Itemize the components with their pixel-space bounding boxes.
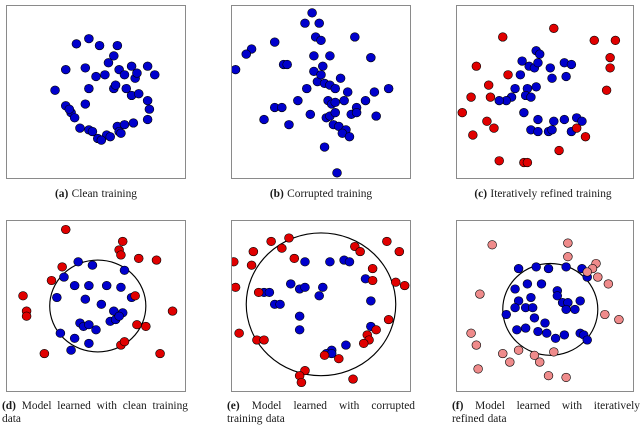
data-point <box>111 81 120 90</box>
scatter-plot-b <box>232 6 410 178</box>
data-point <box>306 110 315 119</box>
data-point <box>336 74 345 83</box>
data-point <box>483 117 492 126</box>
data-point <box>317 71 326 80</box>
data-point <box>562 373 571 382</box>
data-point <box>309 52 318 61</box>
data-point <box>141 322 150 331</box>
data-point <box>132 69 141 78</box>
scatter-series-outlier <box>232 234 409 387</box>
data-point <box>265 288 274 297</box>
data-point <box>484 81 493 90</box>
data-point <box>131 292 140 301</box>
data-point <box>315 19 324 28</box>
data-point <box>511 303 520 312</box>
data-point <box>523 158 532 167</box>
data-point <box>549 348 558 357</box>
data-point <box>235 329 244 338</box>
data-point <box>361 96 370 105</box>
data-point <box>498 349 507 358</box>
panel-c <box>456 5 634 179</box>
data-point <box>382 237 391 246</box>
data-point <box>116 251 125 260</box>
scatter-series-inlier <box>502 263 592 345</box>
caption-label-d: (d) <box>2 400 16 412</box>
data-point <box>61 225 70 234</box>
data-point <box>562 72 571 81</box>
data-point <box>285 120 294 129</box>
data-point <box>260 115 269 124</box>
data-point <box>560 115 569 124</box>
plot-frame-c <box>456 5 634 179</box>
data-point <box>84 281 93 290</box>
data-point <box>297 378 306 387</box>
data-point <box>505 358 514 367</box>
data-point <box>488 241 497 250</box>
data-point <box>70 114 79 123</box>
data-point <box>541 319 550 328</box>
data-point <box>523 280 532 289</box>
data-point <box>22 312 31 321</box>
data-point <box>81 100 90 109</box>
data-point <box>602 86 611 95</box>
caption-text-b: Corrupted training <box>287 188 372 200</box>
caption-c: (c) Iteratively refined training <box>446 188 640 201</box>
data-point <box>143 62 152 71</box>
data-point <box>467 93 476 102</box>
scatter-plot-e <box>232 221 410 391</box>
caption-text-c: Iteratively refined training <box>490 188 611 200</box>
data-point <box>168 307 177 316</box>
data-point <box>109 52 118 61</box>
data-point <box>331 98 340 107</box>
data-point <box>571 305 580 314</box>
data-point <box>267 237 276 246</box>
data-point <box>97 300 106 309</box>
data-point <box>340 96 349 105</box>
data-point <box>293 96 302 105</box>
data-point <box>95 41 104 50</box>
data-point <box>611 36 620 45</box>
data-point <box>542 329 551 338</box>
data-point <box>527 293 536 302</box>
data-point <box>593 273 602 282</box>
data-point <box>546 64 555 73</box>
data-point <box>581 132 590 141</box>
data-point <box>567 60 576 69</box>
data-point <box>247 261 256 270</box>
data-point <box>498 33 507 42</box>
data-point <box>534 58 543 67</box>
data-point <box>92 72 101 81</box>
data-point <box>343 88 352 97</box>
data-point <box>270 38 279 47</box>
data-point <box>318 62 327 71</box>
data-point <box>474 365 483 374</box>
data-point <box>232 258 238 267</box>
data-point <box>152 256 161 265</box>
data-point <box>528 303 537 312</box>
data-point <box>572 124 581 133</box>
data-point <box>277 103 286 112</box>
data-point <box>92 326 101 335</box>
data-point <box>555 146 564 155</box>
data-point <box>368 276 377 285</box>
data-point <box>145 105 154 114</box>
data-point <box>366 297 375 306</box>
data-point <box>548 74 557 83</box>
caption-text-e: Model learned with corrupted training da… <box>227 400 415 425</box>
data-point <box>384 315 393 324</box>
data-point <box>301 258 310 267</box>
data-point <box>495 96 504 105</box>
data-point <box>132 320 141 329</box>
scatter-series-inlier <box>51 34 160 144</box>
data-point <box>563 252 572 261</box>
data-point <box>514 264 523 273</box>
data-point <box>560 331 569 340</box>
panel-a <box>6 5 186 179</box>
data-point <box>512 326 521 335</box>
data-point <box>81 295 90 304</box>
data-point <box>521 324 530 333</box>
data-point <box>116 283 125 292</box>
data-point <box>356 247 365 256</box>
data-point <box>120 337 129 346</box>
data-point <box>60 273 69 282</box>
scatter-plot-f <box>457 221 633 391</box>
scatter-series-outlier <box>458 24 620 167</box>
scatter-series-outlier <box>19 225 177 358</box>
data-point <box>100 71 109 80</box>
data-point <box>534 115 543 124</box>
data-point <box>359 339 368 348</box>
data-point <box>615 315 624 324</box>
figure-container: (a) Clean training (b) Corrupted trainin… <box>0 0 640 432</box>
data-point <box>532 83 541 92</box>
data-point <box>118 237 127 246</box>
data-point <box>372 112 381 121</box>
data-point <box>97 136 106 145</box>
data-point <box>301 19 310 28</box>
data-point <box>549 117 558 126</box>
data-point <box>366 53 375 62</box>
caption-text-d: Model learned with clean training data <box>2 400 188 425</box>
plot-frame-b <box>231 5 411 179</box>
data-point <box>490 124 499 133</box>
data-point <box>143 96 152 105</box>
data-point <box>368 264 377 273</box>
data-point <box>349 375 358 384</box>
data-point <box>325 52 334 61</box>
data-point <box>276 300 285 309</box>
data-point <box>232 283 240 292</box>
data-point <box>249 247 258 256</box>
data-point <box>51 86 60 95</box>
panel-e <box>231 220 411 392</box>
data-point <box>129 119 138 128</box>
data-point <box>548 126 557 135</box>
data-point <box>583 336 592 345</box>
data-point <box>502 310 511 319</box>
data-point <box>67 346 76 355</box>
data-point <box>535 50 544 59</box>
data-point <box>320 351 329 360</box>
data-point <box>534 127 543 136</box>
data-point <box>318 283 327 292</box>
caption-e: (e) Model learned with corrupted trainin… <box>227 400 415 427</box>
data-point <box>61 65 70 74</box>
data-point <box>76 124 85 133</box>
data-point <box>604 280 613 289</box>
data-point <box>467 329 476 338</box>
caption-b: (b) Corrupted training <box>227 188 415 201</box>
data-point <box>122 84 131 93</box>
data-point <box>519 108 528 117</box>
data-point <box>285 234 294 243</box>
data-point <box>458 108 467 117</box>
data-point <box>47 276 56 285</box>
data-point <box>317 36 326 45</box>
plot-frame-d <box>6 220 186 392</box>
data-point <box>84 34 93 43</box>
panel-b <box>231 5 411 179</box>
data-point <box>84 339 93 348</box>
data-point <box>65 105 74 114</box>
data-point <box>576 297 585 306</box>
data-point <box>72 40 81 49</box>
data-point <box>315 292 324 301</box>
data-point <box>143 115 152 124</box>
data-point <box>283 60 292 69</box>
data-point <box>58 263 67 272</box>
plot-frame-a <box>6 5 186 179</box>
data-point <box>81 64 90 73</box>
caption-label-b: (b) <box>270 188 284 200</box>
plot-frame-f <box>456 220 634 392</box>
caption-text-f: Model learned with iteratively refined d… <box>452 400 640 425</box>
data-point <box>156 349 165 358</box>
data-point <box>352 108 361 117</box>
caption-label-a: (a) <box>55 188 68 200</box>
data-point <box>535 358 544 367</box>
data-point <box>232 65 240 74</box>
data-point <box>84 84 93 93</box>
data-point <box>115 312 124 321</box>
data-point <box>260 336 269 345</box>
data-point <box>549 24 558 33</box>
data-point <box>88 261 97 270</box>
data-point <box>400 281 409 290</box>
data-point <box>606 53 615 62</box>
data-point <box>333 169 342 178</box>
scatter-plot-d <box>7 221 185 391</box>
data-point <box>102 281 111 290</box>
data-point <box>516 71 525 80</box>
data-point <box>70 281 79 290</box>
caption-label-f: (f) <box>452 400 463 412</box>
data-point <box>530 314 539 323</box>
data-point <box>120 266 129 275</box>
data-point <box>325 258 334 267</box>
data-point <box>514 346 523 355</box>
data-point <box>544 264 553 273</box>
scatter-series-outlier <box>467 239 624 382</box>
data-point <box>331 108 340 117</box>
caption-label-e: (e) <box>227 400 240 412</box>
data-point <box>468 131 477 140</box>
data-point <box>562 305 571 314</box>
data-point <box>113 41 122 50</box>
scatter-plot-c <box>457 6 633 178</box>
data-point <box>120 71 129 80</box>
data-point <box>350 33 359 42</box>
data-point <box>345 258 354 267</box>
data-point <box>472 62 481 71</box>
data-point <box>583 268 592 277</box>
data-point <box>486 93 495 102</box>
data-point <box>254 288 263 297</box>
data-point <box>511 285 520 294</box>
data-point <box>56 329 65 338</box>
data-point <box>70 334 79 343</box>
data-point <box>277 244 286 253</box>
data-point <box>40 349 49 358</box>
data-point <box>150 71 159 80</box>
data-point <box>527 93 536 102</box>
data-point <box>134 254 143 263</box>
data-point <box>472 341 481 350</box>
data-point <box>116 129 125 138</box>
data-point <box>475 290 484 299</box>
data-point <box>19 292 28 301</box>
data-point <box>532 263 541 272</box>
data-point <box>495 157 504 166</box>
data-point <box>52 293 61 302</box>
data-point <box>370 88 379 97</box>
scatter-series-inlier <box>232 9 393 178</box>
data-point <box>372 326 381 335</box>
data-point <box>74 258 83 267</box>
data-point <box>134 89 143 98</box>
data-point <box>341 341 350 350</box>
panel-f <box>456 220 634 392</box>
data-point <box>345 132 354 141</box>
panel-d <box>6 220 186 392</box>
caption-label-c: (c) <box>474 188 487 200</box>
data-point <box>295 312 304 321</box>
data-point <box>544 371 553 380</box>
data-point <box>302 84 311 93</box>
data-point <box>384 84 393 93</box>
data-point <box>534 327 543 336</box>
caption-text-a: Clean training <box>72 188 137 200</box>
data-point <box>301 283 310 292</box>
data-point <box>320 143 329 152</box>
data-point <box>563 239 572 248</box>
data-point <box>606 64 615 73</box>
data-point <box>600 310 609 319</box>
scatter-plot-a <box>7 6 185 178</box>
scatter-series-inlier <box>495 46 587 135</box>
data-point <box>504 71 513 80</box>
data-point <box>562 263 571 272</box>
data-point <box>295 326 304 335</box>
data-point <box>395 247 404 256</box>
data-point <box>551 334 560 343</box>
data-point <box>391 278 400 287</box>
caption-f: (f) Model learned with iteratively refin… <box>452 400 640 427</box>
data-point <box>537 280 546 289</box>
caption-a: (a) Clean training <box>6 188 186 201</box>
data-point <box>290 254 299 263</box>
data-point <box>511 84 520 93</box>
data-point <box>286 280 295 289</box>
data-point <box>308 9 317 18</box>
plot-frame-e <box>231 220 411 392</box>
caption-d: (d) Model learned with clean training da… <box>2 400 188 427</box>
scatter-series-inlier <box>260 256 376 358</box>
data-point <box>334 354 343 363</box>
data-point <box>242 50 251 59</box>
data-point <box>106 132 115 141</box>
data-point <box>590 36 599 45</box>
data-point <box>331 84 340 93</box>
